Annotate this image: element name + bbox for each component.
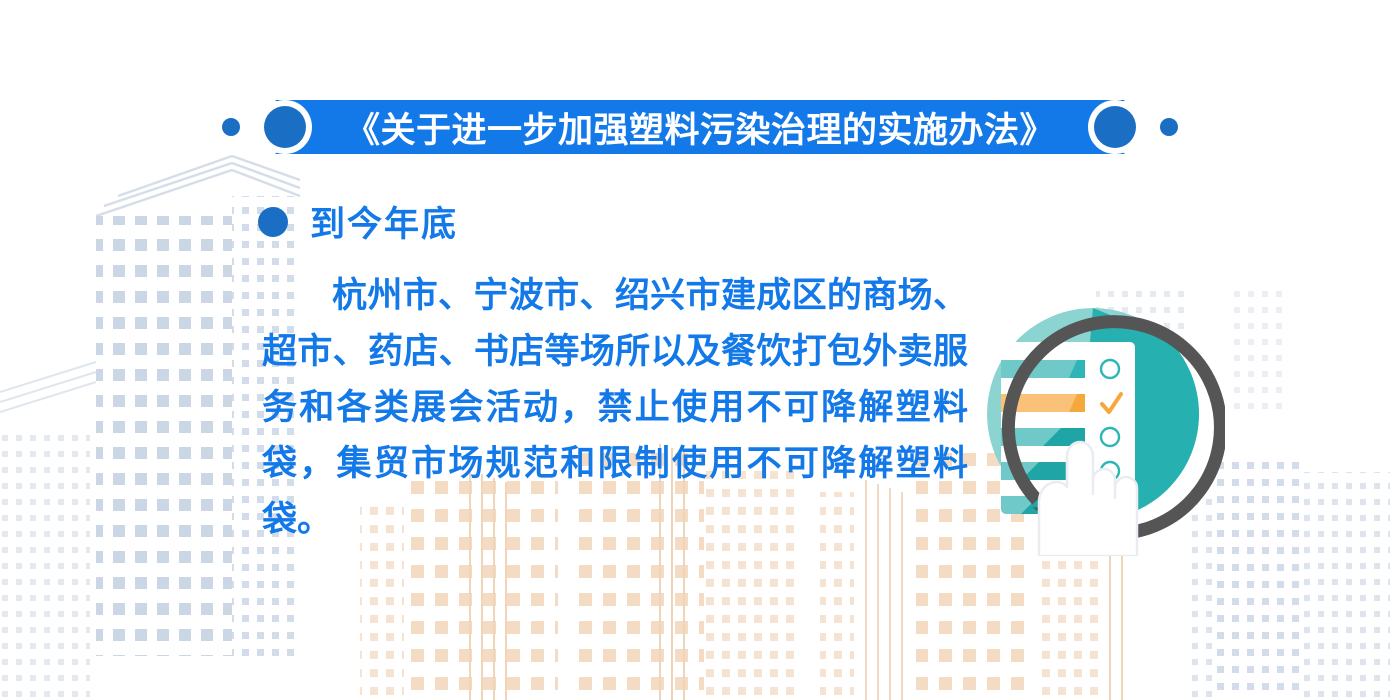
building-far-left	[0, 430, 90, 700]
roof-lines-far-left	[0, 362, 96, 412]
checklist-circle-illustration	[965, 288, 1225, 556]
bullet-dot-icon	[258, 207, 288, 237]
section-heading-row: 到今年底	[258, 196, 458, 247]
infographic-slide: 《关于进一步加强塑料污染治理的实施办法》 到今年底 杭州市、宁波市、绍兴市建成区…	[0, 0, 1400, 700]
banner-title: 《关于进一步加强塑料污染治理的实施办法》	[0, 96, 1400, 158]
section-paragraph: 杭州市、宁波市、绍兴市建成区的商场、超市、药店、书店等场所以及餐饮打包外卖服务和…	[262, 268, 968, 548]
section-heading: 到今年底	[310, 196, 458, 247]
